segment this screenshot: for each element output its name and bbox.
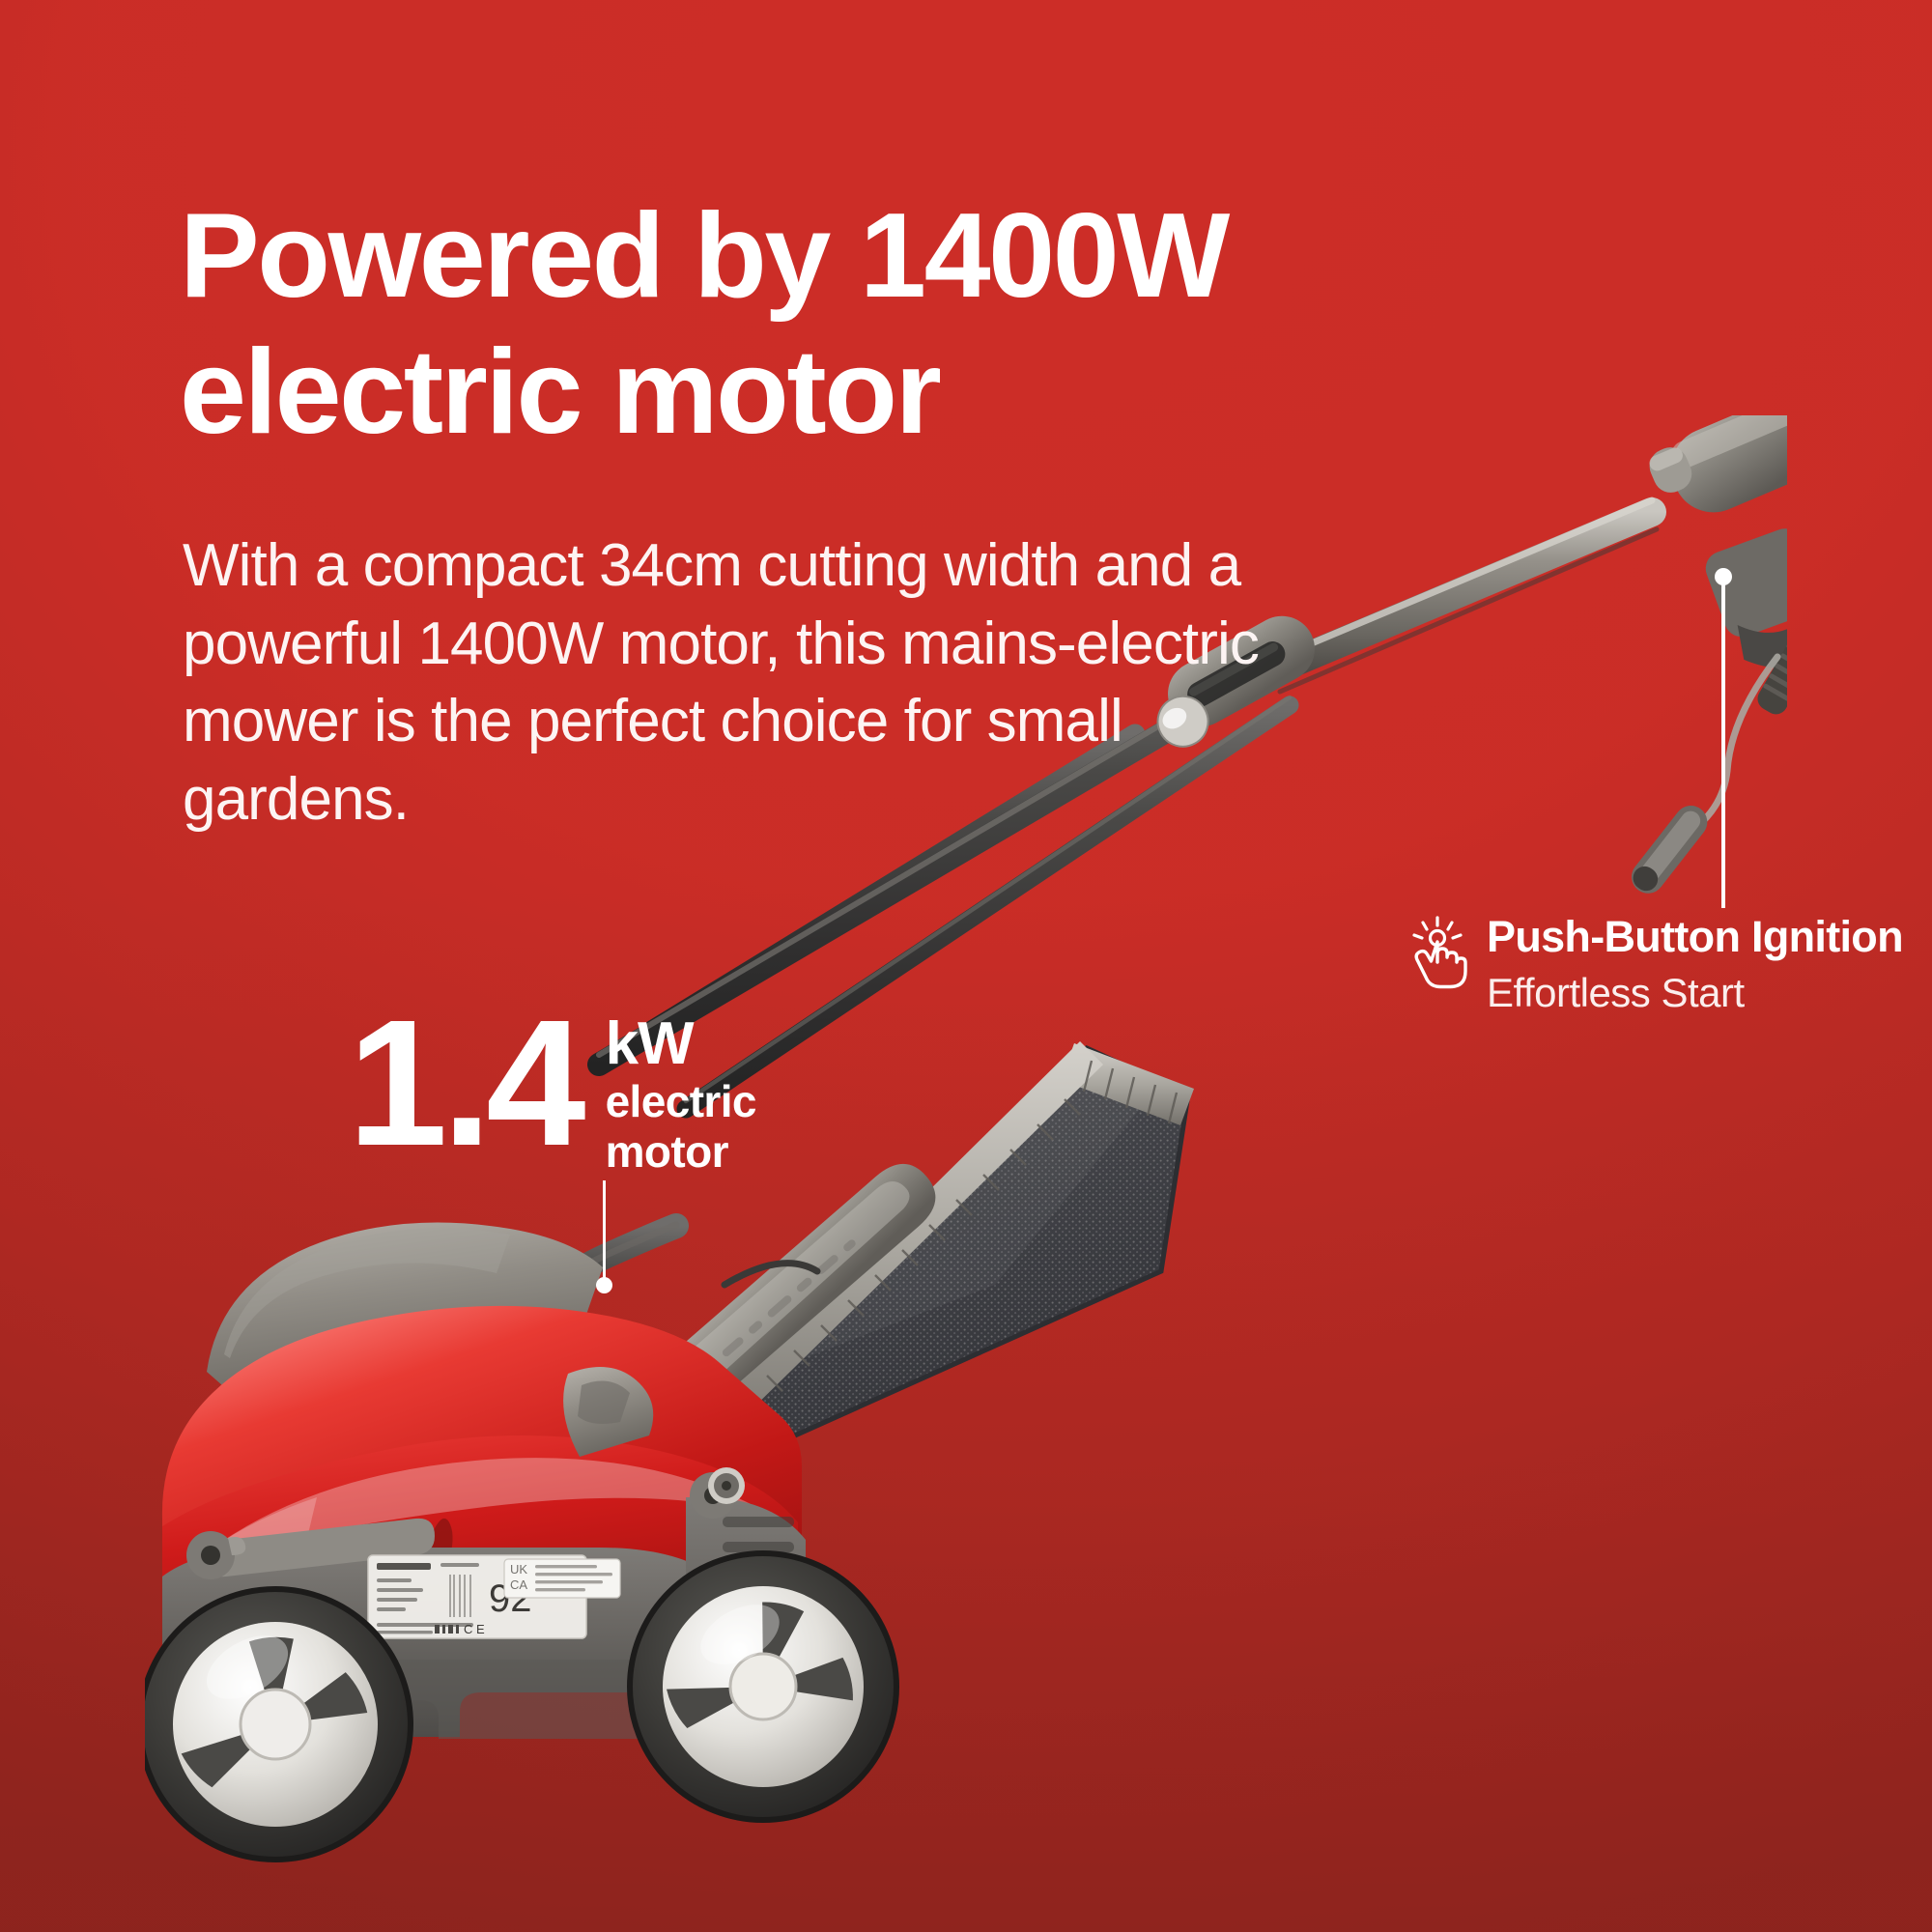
handle-switch-box	[1625, 415, 1787, 900]
feature-callout-push-button: Push-Button Ignition Effortless Start	[1406, 913, 1903, 1016]
feature-title: Push-Button Ignition	[1487, 913, 1903, 961]
mower-wheel-rear	[630, 1553, 896, 1820]
feature-subtitle: Effortless Start	[1487, 969, 1903, 1017]
feature-callout-leader-line	[1715, 568, 1734, 908]
spec-callout-leader-line	[601, 1180, 607, 1298]
leader-dot	[596, 1277, 612, 1293]
spec-unit: kW	[606, 1010, 756, 1077]
spec-value: 1.4	[348, 1005, 581, 1163]
spec-callout-power: 1.4 kW electric motor	[348, 1005, 756, 1177]
mower-wheel-front	[145, 1589, 411, 1860]
product-feature-poster: 92 C E UK CA	[0, 0, 1932, 1932]
deck-pivot-screw	[708, 1467, 745, 1504]
ukca-mark-line1: UK	[510, 1562, 527, 1577]
ce-mark: C E	[464, 1622, 485, 1636]
feature-callout-text: Push-Button Ignition Effortless Start	[1487, 913, 1903, 1016]
spec-descriptor-line1: electric	[606, 1077, 756, 1127]
page-headline: Powered by 1400W electric motor	[180, 188, 1474, 462]
leader-stem	[603, 1180, 606, 1281]
spec-descriptor-line2: motor	[606, 1127, 756, 1178]
tap-finger-icon	[1406, 915, 1469, 990]
spec-unit-stack: kW electric motor	[606, 1005, 756, 1177]
page-subcopy: With a compact 34cm cutting width and a …	[183, 527, 1274, 838]
product-rating-label: 92 C E UK CA	[368, 1555, 620, 1638]
leader-stem	[1721, 580, 1725, 908]
ukca-mark-line2: CA	[510, 1577, 527, 1592]
